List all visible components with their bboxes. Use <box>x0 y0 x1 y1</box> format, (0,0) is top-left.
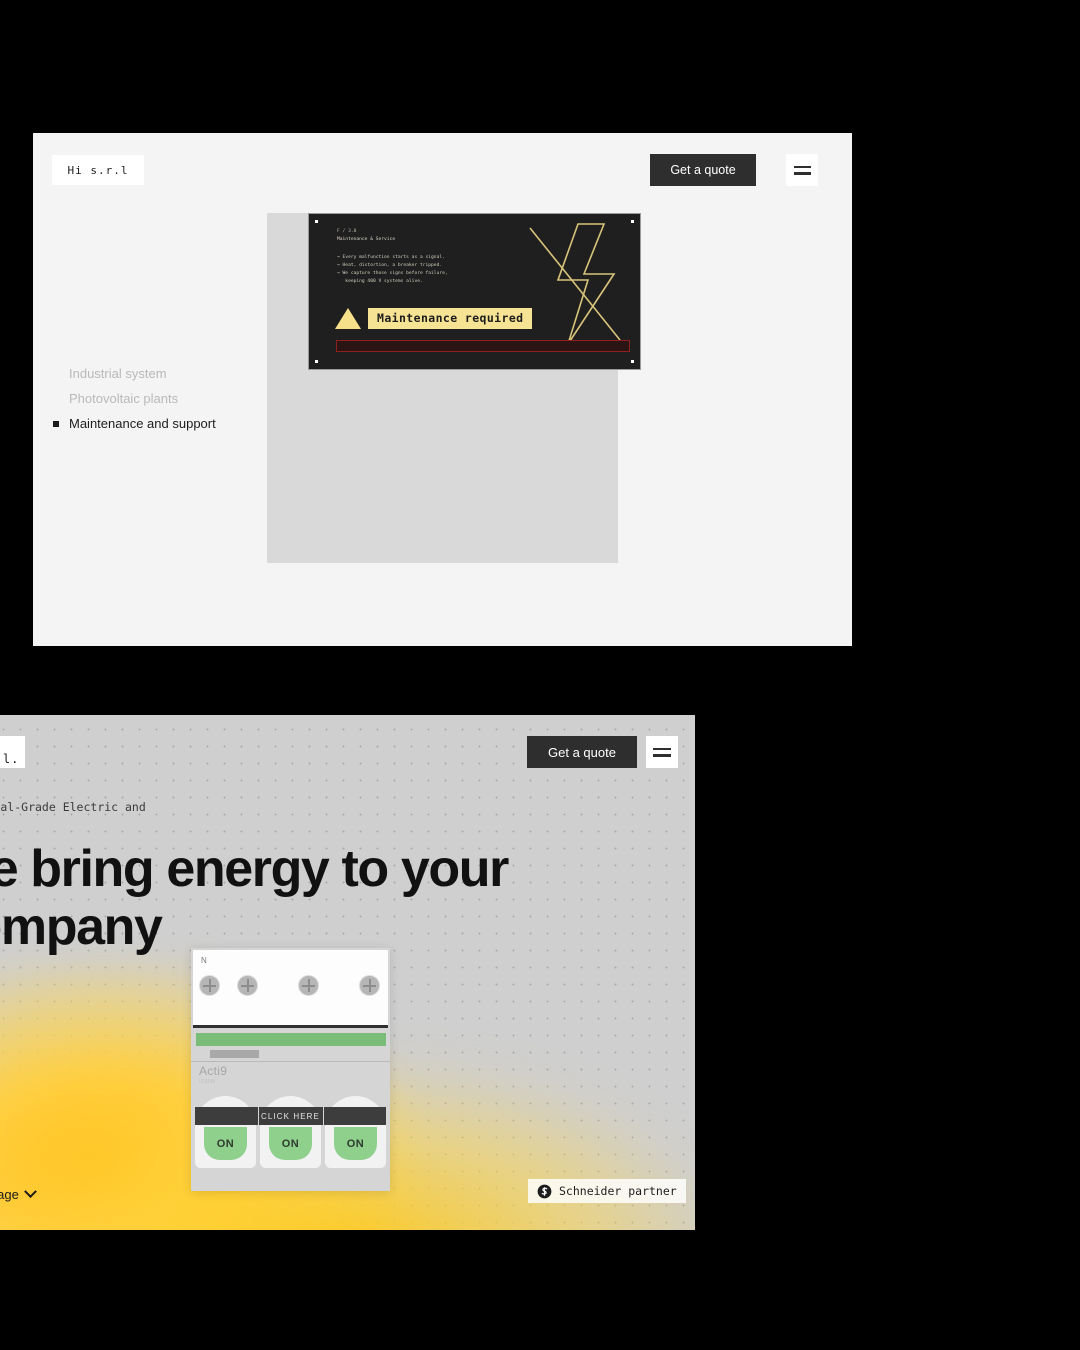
screw-terminal-icon <box>237 975 258 996</box>
screw-terminal-icon <box>298 975 319 996</box>
service-detail-panel: Hi s.r.l Get a quote F / 3.0 Mainten <box>33 133 852 646</box>
hero-header: Hi s.r.l. Get a quote <box>0 715 695 789</box>
corner-dot-icon <box>315 360 318 363</box>
service-nav-list: Industrial system Photovoltaic plants Ma… <box>53 361 216 436</box>
terminal-kicker: F / 3.0 <box>337 228 448 236</box>
sidebar-item-photovoltaic-plants[interactable]: Photovoltaic plants <box>53 386 216 411</box>
bullet-square-icon <box>53 421 59 427</box>
hero-panel: Hi s.r.l. Get a quote Industrial-Grade E… <box>0 715 695 1230</box>
screw-terminal-icon <box>199 975 220 996</box>
language-selector[interactable]: Language <box>0 1187 35 1202</box>
get-a-quote-button[interactable]: Get a quote <box>527 736 637 768</box>
sidebar-item-industrial-system[interactable]: Industrial system <box>53 361 216 386</box>
terminal-subtitle: Maintenance & Service <box>337 236 448 244</box>
terminal-bullet: keeping 400 V systems alive. <box>337 278 448 286</box>
corner-dot-icon <box>315 220 318 223</box>
chevron-down-icon <box>24 1185 37 1198</box>
service-media-panel: F / 3.0 Maintenance & Service → Every ma… <box>267 213 618 563</box>
toggle-state-label: ON <box>269 1127 312 1160</box>
breaker-label-tab <box>210 1050 259 1058</box>
breaker-status-indicator <box>196 1033 386 1046</box>
corner-dot-icon <box>631 360 634 363</box>
hero-title: We bring energy to your company <box>0 840 508 956</box>
toggle-seam <box>258 1107 259 1125</box>
hero-kicker: Industrial-Grade Electric and Systems <box>0 799 146 835</box>
alert-progress-bar <box>336 340 630 352</box>
screw-terminal-icon <box>359 975 380 996</box>
hamburger-menu-icon[interactable] <box>646 736 678 768</box>
schneider-logo-icon <box>537 1184 552 1199</box>
sidebar-item-label: Photovoltaic plants <box>69 391 178 406</box>
warning-triangle-icon <box>335 308 361 329</box>
sidebar-item-label: Industrial system <box>69 366 167 381</box>
sidebar-item-label: Maintenance and support <box>69 416 216 431</box>
click-here-label: CLICK HERE <box>261 1112 320 1121</box>
terminal-bullet: → We capture those signs before failure, <box>337 270 448 278</box>
partner-label: Schneider partner <box>559 1184 677 1198</box>
schneider-partner-badge[interactable]: Schneider partner <box>528 1179 686 1203</box>
language-label: Language <box>0 1187 19 1202</box>
hamburger-bar <box>794 172 811 175</box>
hamburger-bar <box>794 166 811 169</box>
toggle-state-label: ON <box>204 1127 247 1160</box>
maintenance-terminal-card: F / 3.0 Maintenance & Service → Every ma… <box>308 213 641 370</box>
breaker-divider <box>191 1061 390 1062</box>
get-a-quote-button[interactable]: Get a quote <box>650 154 756 186</box>
screenshot-stage: Hi s.r.l Get a quote F / 3.0 Mainten <box>0 0 1080 1350</box>
neutral-label: N <box>201 956 207 965</box>
terminal-text-block: F / 3.0 Maintenance & Service → Every ma… <box>337 228 448 286</box>
hamburger-bar <box>653 748 671 751</box>
breaker-terminal-block: N <box>193 950 388 1028</box>
breaker-model-label: iC60N <box>199 1079 215 1085</box>
maintenance-alert: Maintenance required <box>335 308 532 329</box>
terminal-bullet: → Heat, distortion, a breaker tripped. <box>337 262 448 270</box>
toggle-seam <box>323 1107 324 1125</box>
top-panel-header: Hi s.r.l Get a quote <box>33 133 852 205</box>
hamburger-menu-icon[interactable] <box>786 154 818 186</box>
terminal-bullet-list: → Every malfunction starts as a signal. … <box>337 254 448 286</box>
alert-label: Maintenance required <box>368 308 532 329</box>
brand-logo[interactable]: Hi s.r.l <box>52 155 144 185</box>
lightning-bolt-icon <box>516 218 634 350</box>
terminal-bullet: → Every malfunction starts as a signal. <box>337 254 448 262</box>
hamburger-bar <box>653 754 671 757</box>
circuit-breaker-widget[interactable]: N Acti9 iC60N ON ON ON <box>191 948 390 1191</box>
brand-logo[interactable]: Hi s.r.l. <box>0 736 25 768</box>
click-here-button[interactable]: CLICK HERE <box>195 1107 386 1125</box>
breaker-brand-label: Acti9 <box>199 1064 227 1078</box>
toggle-state-label: ON <box>334 1127 377 1160</box>
sidebar-item-maintenance-and-support[interactable]: Maintenance and support <box>53 411 216 436</box>
